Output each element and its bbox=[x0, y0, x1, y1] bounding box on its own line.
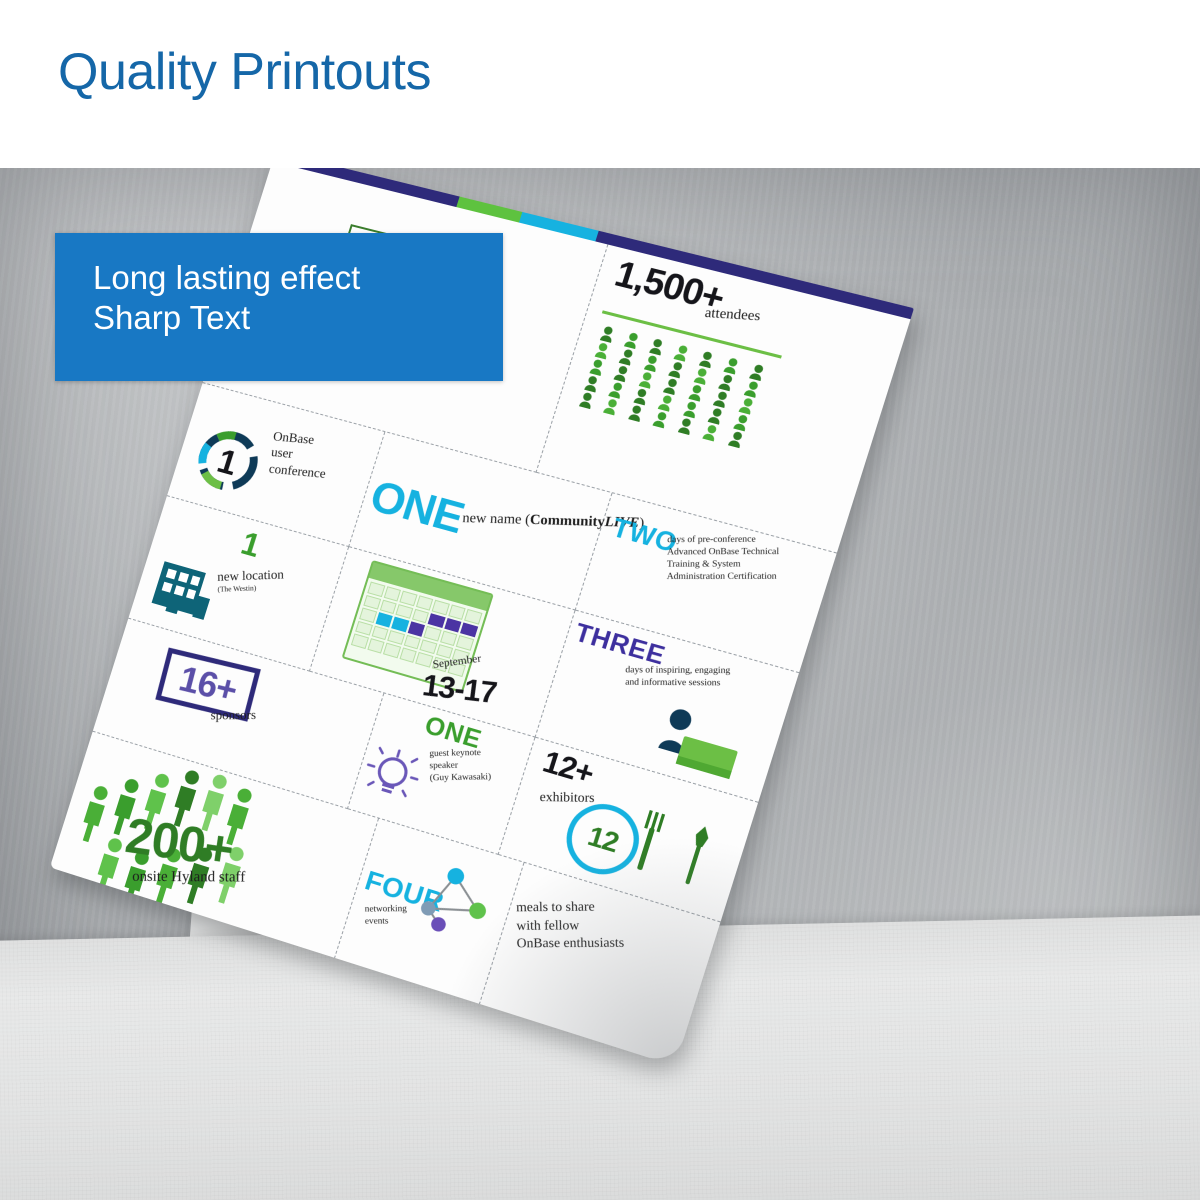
stat-sessions-line1: days of inspiring, engaging bbox=[626, 663, 731, 676]
callout-line-2: Sharp Text bbox=[93, 298, 503, 338]
stat-pre-conference-line1: days of pre-conference bbox=[668, 532, 780, 545]
stat-networking-line1: networking bbox=[364, 902, 406, 915]
product-photo: 250+ classes 1,500+ attendees bbox=[0, 168, 1200, 1200]
stat-pre-conference-line2: Advanced OnBase Technical bbox=[667, 545, 779, 558]
stat-exhibitors-label: exhibitors bbox=[540, 790, 595, 806]
stat-new-name-number: ONE bbox=[365, 471, 470, 543]
stat-sponsors-label: sponsors bbox=[211, 708, 256, 723]
stat-pre-conference-line3: Training & System bbox=[667, 557, 779, 570]
stat-sponsors-number: 16+ bbox=[175, 658, 241, 711]
network-icon bbox=[411, 857, 502, 951]
stat-keynote-line1: guest keynote bbox=[429, 746, 490, 760]
stat-meals-line3: OnBase enthusiasts bbox=[517, 933, 625, 952]
stat-new-name-label-plain: new name ( bbox=[462, 511, 530, 528]
feature-callout-box: Long lasting effect Sharp Text bbox=[55, 233, 503, 381]
people-grid-icon bbox=[579, 325, 777, 451]
stat-keynote-line3: (Guy Kawasaki) bbox=[429, 770, 491, 784]
screenshot-root: 250+ classes 1,500+ attendees bbox=[0, 0, 1200, 1200]
lightbulb-icon bbox=[355, 741, 426, 814]
svg-text:1: 1 bbox=[213, 443, 242, 483]
stat-keynote-line2: speaker bbox=[429, 758, 491, 772]
stat-dates-number: 13-17 bbox=[420, 669, 498, 710]
stat-networking-line2: events bbox=[365, 914, 407, 927]
stat-pre-conference-line4: Administration Certification bbox=[667, 570, 779, 583]
stat-attendees-label: attendees bbox=[703, 306, 760, 325]
brand-community: Community bbox=[529, 513, 605, 530]
stat-staff-label: onsite Hyland staff bbox=[132, 869, 245, 886]
stat-sessions-line2: and informative sessions bbox=[626, 676, 731, 689]
header-band: Quality Printouts bbox=[0, 0, 1200, 168]
brand-badge: 1 bbox=[183, 419, 271, 508]
stat-new-location-number: 1 bbox=[237, 525, 264, 564]
stat-meals-number: 12 bbox=[585, 823, 621, 856]
stat-new-location-line1: new location bbox=[217, 567, 284, 585]
building-icon bbox=[143, 555, 221, 633]
stat-new-location-line2: (The Westin) bbox=[217, 582, 284, 593]
page-title: Quality Printouts bbox=[58, 45, 431, 100]
stat-meals-line2: with fellow bbox=[516, 915, 624, 934]
cutlery-icon bbox=[623, 804, 719, 896]
stat-meals-line1: meals to share bbox=[516, 897, 624, 916]
callout-line-1: Long lasting effect bbox=[93, 233, 503, 298]
